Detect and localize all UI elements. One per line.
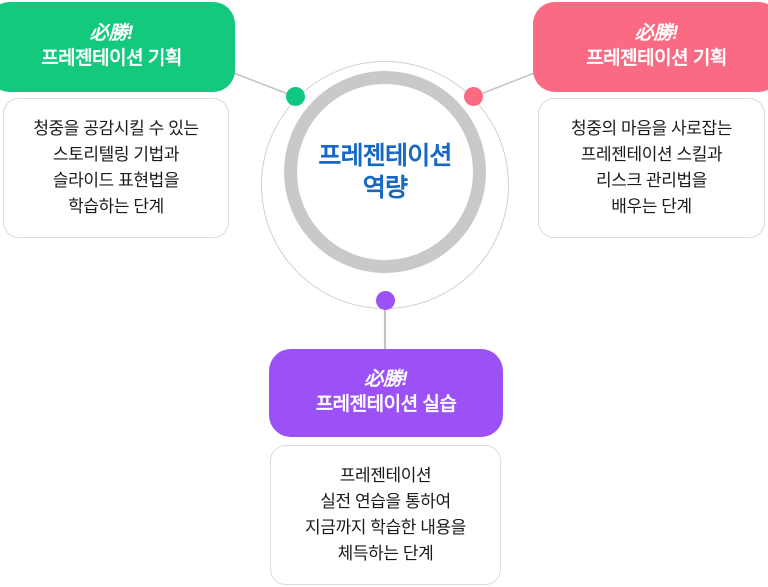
node-dot-pink[interactable] — [464, 87, 483, 106]
branch-purple-title-line1: 必勝! — [364, 368, 407, 393]
branch-description-purple: 프레젠테이션 실전 연습을 통하여 지금까지 학습한 내용을 체득하는 단계 — [270, 445, 501, 585]
diagram-canvas: 프레젠테이션 역량 必勝! 프레젠테이션 기획 청중을 공감시킬 수 있는 스토… — [0, 0, 768, 587]
branch-green-title-line2: 프레젠테이션 기획 — [41, 47, 182, 72]
branch-description-green: 청중을 공감시킬 수 있는 스토리텔링 기법과 슬라이드 표현법을 학습하는 단… — [3, 98, 229, 238]
branch-purple-title-line2: 프레젠테이션 실습 — [316, 393, 457, 418]
hub-title: 프레젠테이션 역량 — [284, 71, 486, 273]
branch-pink-title-line1: 必勝! — [635, 22, 678, 47]
branch-description-pink: 청중의 마음을 사로잡는 프레젠테이션 스킬과 리스크 관리법을 배우는 단계 — [538, 98, 765, 238]
branch-header-purple[interactable]: 必勝! 프레젠테이션 실습 — [269, 349, 503, 437]
branch-pink-title-line2: 프레젠테이션 기획 — [586, 47, 727, 72]
branch-header-green[interactable]: 必勝! 프레젠테이션 기획 — [0, 2, 235, 92]
branch-green-title-line1: 必勝! — [90, 22, 133, 47]
node-dot-purple[interactable] — [376, 291, 395, 310]
node-dot-green[interactable] — [286, 87, 305, 106]
branch-header-pink[interactable]: 必勝! 프레젠테이션 기획 — [533, 2, 768, 92]
